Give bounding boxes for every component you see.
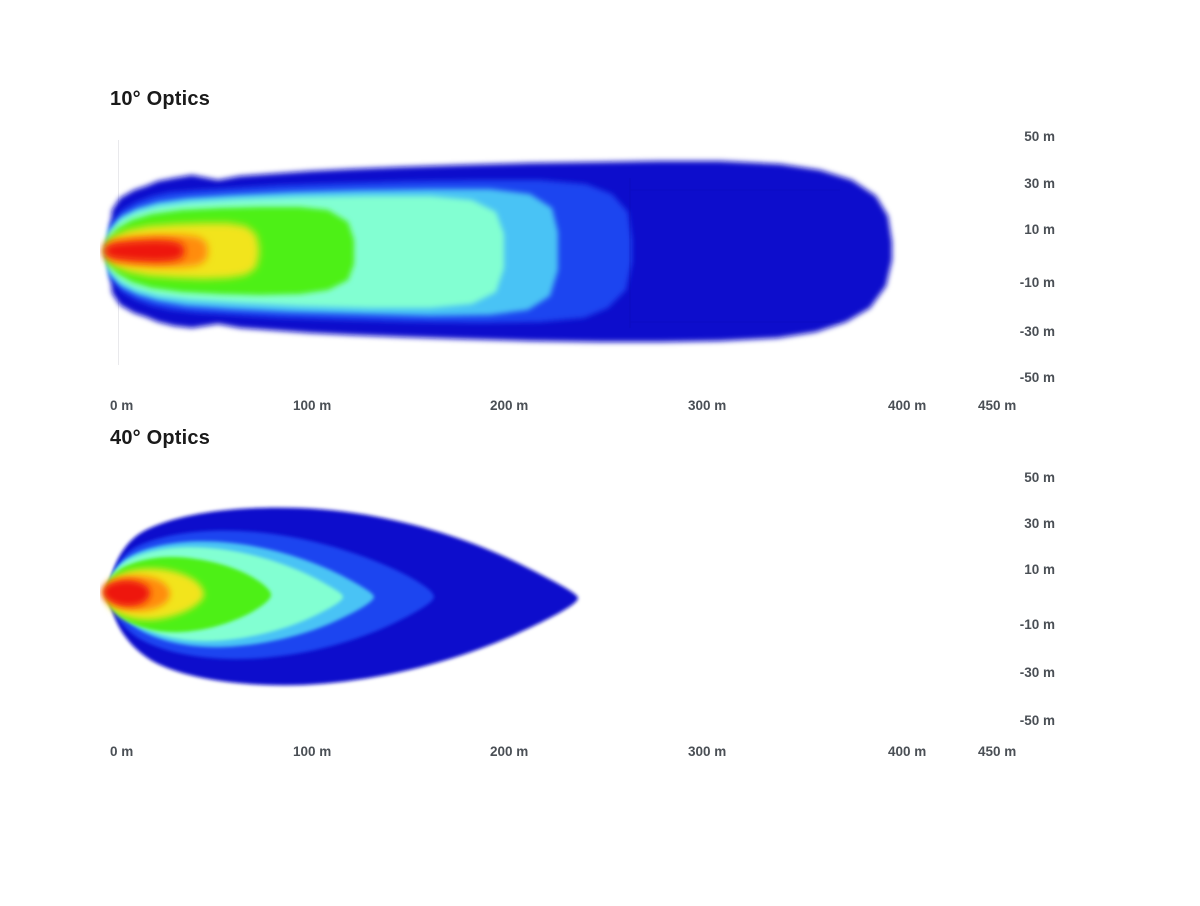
beam-pattern-svg-40deg — [100, 490, 620, 705]
y-tick-label-10deg-10: 10 m — [1000, 222, 1055, 237]
y-tick-label-10deg-30: 30 m — [1000, 176, 1055, 191]
beam-pattern-svg-10deg — [100, 150, 920, 365]
y-tick-label-10deg-neg30: -30 m — [995, 324, 1055, 339]
y-tick-label-40deg-50: 50 m — [1000, 470, 1055, 485]
y-tick-label-40deg-neg30: -30 m — [995, 665, 1055, 680]
y-tick-label-40deg-30: 30 m — [1000, 516, 1055, 531]
x-tick-label-10deg-200: 200 m — [490, 398, 528, 413]
x-tick-label-10deg-400: 400 m — [888, 398, 926, 413]
y-tick-label-40deg-neg50: -50 m — [995, 713, 1055, 728]
x-tick-label-40deg-100: 100 m — [293, 744, 331, 759]
y-tick-label-40deg-10: 10 m — [1000, 562, 1055, 577]
x-tick-label-40deg-0: 0 m — [110, 744, 133, 759]
band-peak-10deg — [104, 240, 185, 262]
x-tick-label-10deg-300: 300 m — [688, 398, 726, 413]
x-tick-label-40deg-450: 450 m — [978, 744, 1016, 759]
x-tick-label-10deg-0: 0 m — [110, 398, 133, 413]
x-tick-label-40deg-400: 400 m — [888, 744, 926, 759]
chart-title-optics-40: 40° Optics — [110, 427, 210, 450]
y-tick-label-10deg-neg10: -10 m — [995, 275, 1055, 290]
x-tick-label-10deg-450: 450 m — [978, 398, 1016, 413]
x-tick-label-10deg-100: 100 m — [293, 398, 331, 413]
y-tick-label-10deg-50: 50 m — [1000, 129, 1055, 144]
beam-plot-optics-40 — [100, 490, 620, 705]
x-tick-label-40deg-300: 300 m — [688, 744, 726, 759]
chart-title-optics-10: 10° Optics — [110, 88, 210, 111]
y-tick-label-40deg-neg10: -10 m — [995, 617, 1055, 632]
y-tick-label-10deg-neg50: -50 m — [995, 370, 1055, 385]
beam-plot-optics-10 — [100, 150, 920, 365]
x-tick-label-40deg-200: 200 m — [490, 744, 528, 759]
